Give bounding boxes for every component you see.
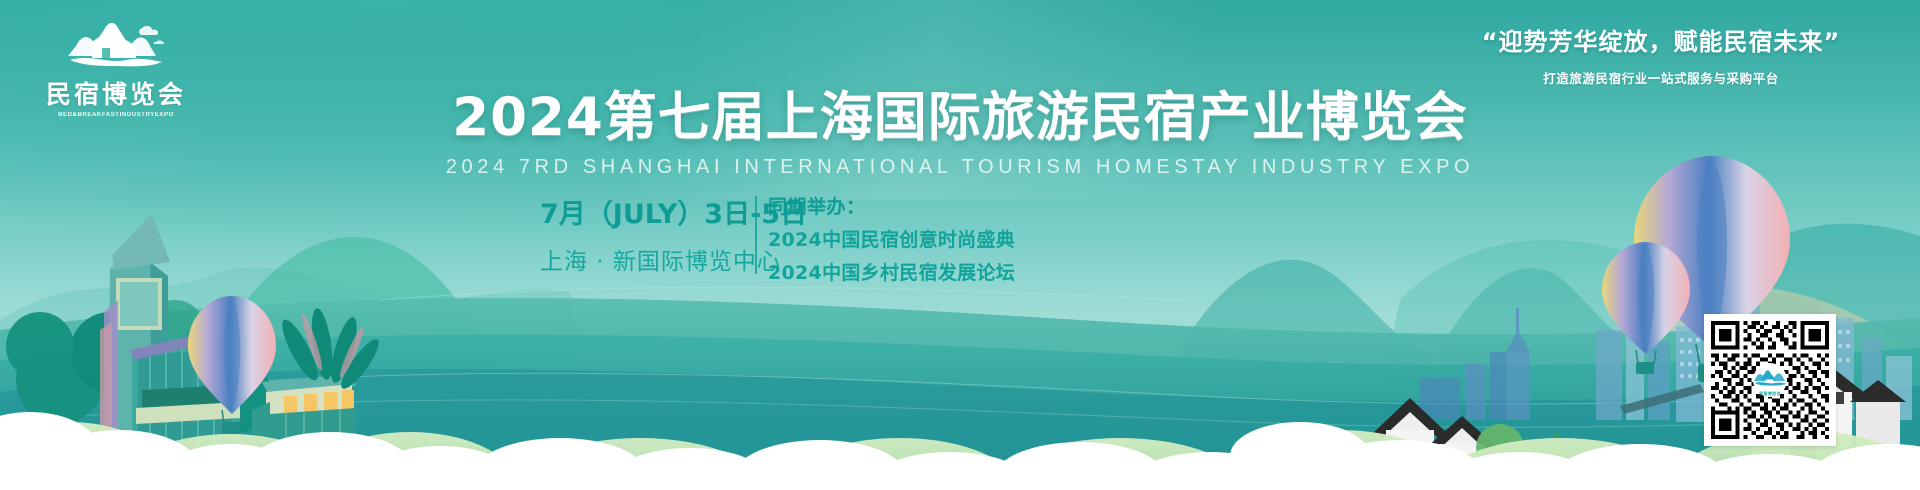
concurrent-item-1: 2024中国民宿创意时尚盛典 bbox=[768, 225, 1015, 252]
page-title-en: 2024 7RD SHANGHAI INTERNATIONAL TOURISM … bbox=[0, 156, 1920, 179]
page-title: 2024第七届上海国际旅游民宿产业博览会 bbox=[0, 88, 1920, 147]
vertical-divider bbox=[755, 196, 757, 274]
mountain-house-logo-icon bbox=[56, 16, 176, 78]
event-date: 7月（JULY）3日-5日 bbox=[540, 192, 740, 231]
title-block: 2024第七届上海国际旅游民宿产业博览会 2024 7RD SHANGHAI I… bbox=[0, 88, 1920, 179]
expo-banner: 民宿博览会 BED&BREAKFASTINDUSTRYEXPO “迎势芳华绽放，… bbox=[0, 0, 1920, 490]
concurrent-events-block: 同期举办： 2024中国民宿创意时尚盛典 2024中国乡村民宿发展论坛 bbox=[768, 192, 1015, 285]
qr-center-label: 民宿博览会 bbox=[1759, 391, 1781, 397]
date-venue-block: 7月（JULY）3日-5日 上海 · 新国际博览中心 bbox=[540, 192, 740, 276]
qr-code[interactable]: 民宿博览会 bbox=[1704, 314, 1836, 446]
slogan-main: “迎势芳华绽放，赋能民宿未来” bbox=[1446, 22, 1876, 57]
slogan-block: “迎势芳华绽放，赋能民宿未来” 打造旅游民宿行业一站式服务与采购平台 bbox=[1446, 22, 1876, 87]
qr-center-mountain-icon bbox=[1753, 363, 1787, 391]
event-venue: 上海 · 新国际博览中心 bbox=[540, 242, 740, 276]
concurrent-item-2: 2024中国乡村民宿发展论坛 bbox=[768, 258, 1015, 285]
qr-center-logo: 民宿博览会 bbox=[1753, 363, 1787, 397]
concurrent-heading: 同期举办： bbox=[768, 192, 1015, 219]
slogan-sub: 打造旅游民宿行业一站式服务与采购平台 bbox=[1446, 68, 1876, 87]
